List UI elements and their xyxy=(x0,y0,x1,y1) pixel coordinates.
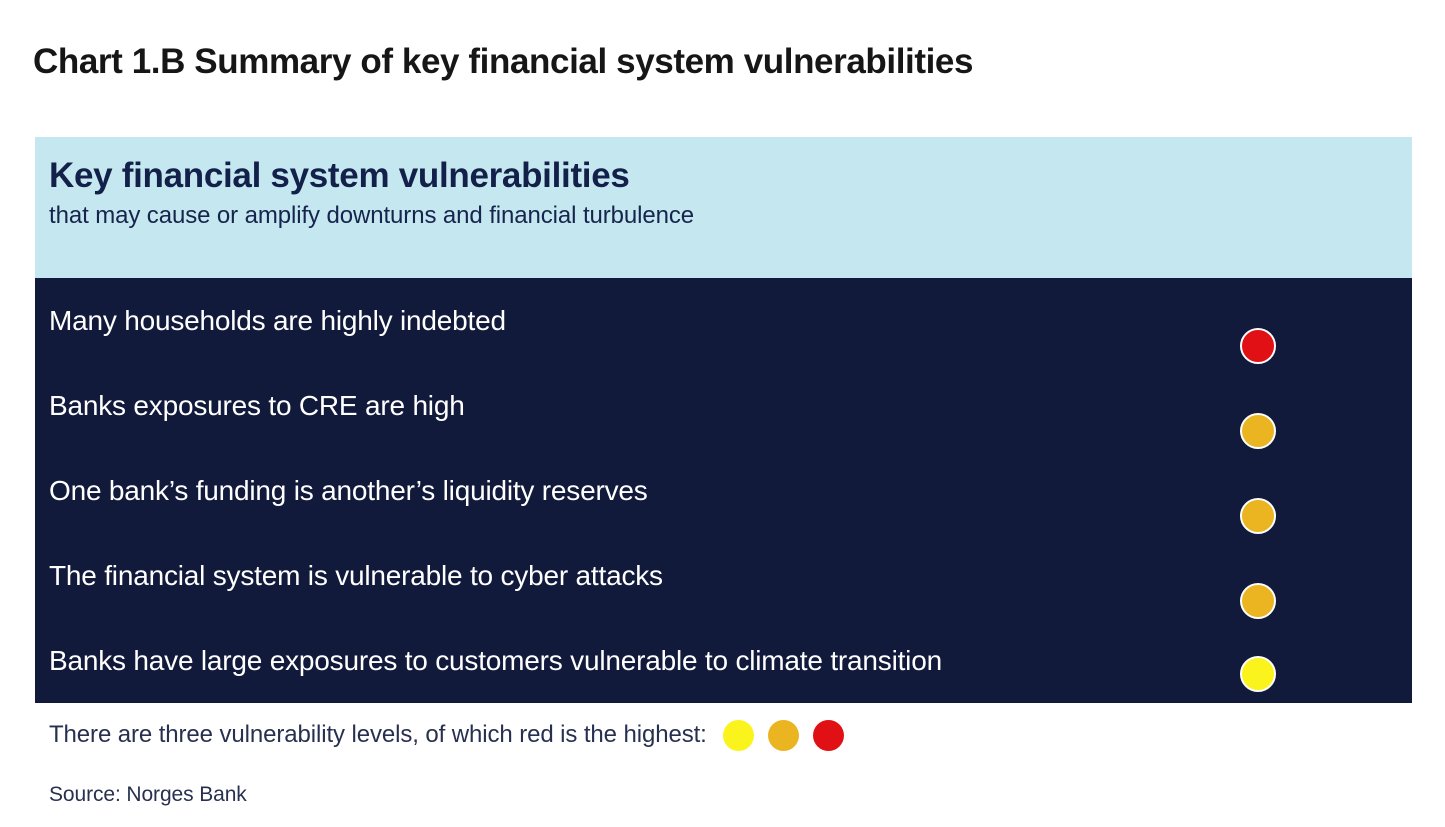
panel-header-title: Key financial system vulnerabilities xyxy=(49,155,630,197)
status-badge-red xyxy=(1240,328,1276,364)
status-badge-amber xyxy=(1240,583,1276,619)
vulnerability-label: Many households are highly indebted xyxy=(49,278,506,363)
vulnerability-label: Banks have large exposures to customers … xyxy=(49,618,942,703)
legend-caption: There are three vulnerability levels, of… xyxy=(49,721,707,749)
status-badge-yellow xyxy=(1240,656,1276,692)
table-row: The financial system is vulnerable to cy… xyxy=(35,533,1412,618)
table-row: Banks exposures to CRE are high xyxy=(35,363,1412,448)
panel-body: Many households are highly indebted Bank… xyxy=(35,278,1412,703)
status-badge-amber xyxy=(1240,498,1276,534)
legend-swatch-yellow xyxy=(723,720,754,751)
panel-header: Key financial system vulnerabilities tha… xyxy=(35,137,1412,278)
panel-header-subtitle: that may cause or amplify downturns and … xyxy=(49,201,694,231)
chart-figure: Chart 1.B Summary of key financial syste… xyxy=(0,0,1445,827)
vulnerability-panel: Key financial system vulnerabilities tha… xyxy=(35,137,1412,703)
legend-swatches xyxy=(723,720,844,751)
legend-swatch-red xyxy=(813,720,844,751)
status-badge-amber xyxy=(1240,413,1276,449)
legend: There are three vulnerability levels, of… xyxy=(49,716,844,754)
legend-swatch-amber xyxy=(768,720,799,751)
table-row: Many households are highly indebted xyxy=(35,278,1412,363)
source-note: Source: Norges Bank xyxy=(49,783,247,807)
page-title: Chart 1.B Summary of key financial syste… xyxy=(33,41,1393,83)
vulnerability-label: The financial system is vulnerable to cy… xyxy=(49,533,663,618)
vulnerability-label: One bank’s funding is another’s liquidit… xyxy=(49,448,648,533)
vulnerability-label: Banks exposures to CRE are high xyxy=(49,363,465,448)
table-row: One bank’s funding is another’s liquidit… xyxy=(35,448,1412,533)
table-row: Banks have large exposures to customers … xyxy=(35,618,1412,703)
